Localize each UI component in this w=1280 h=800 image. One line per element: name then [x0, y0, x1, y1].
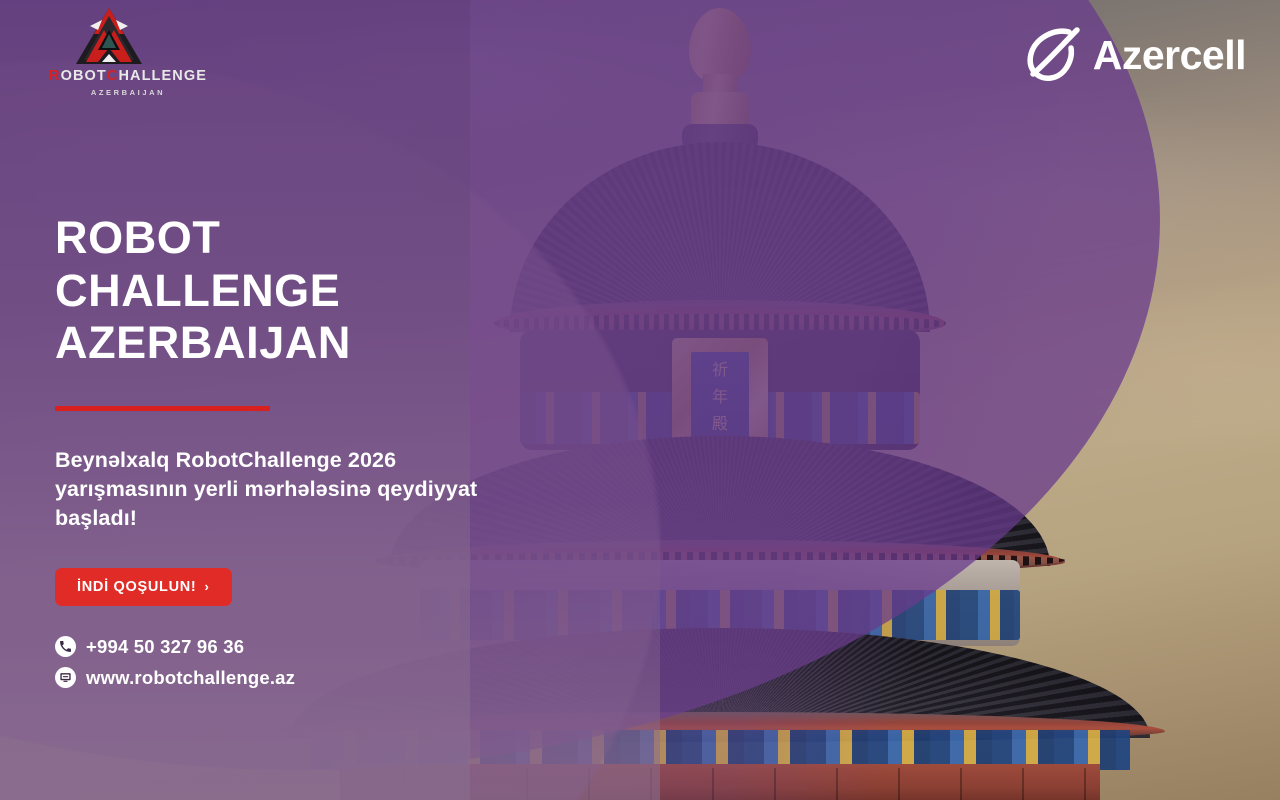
join-now-label: İNDİ QOŞULUN! [77, 579, 196, 595]
contact-phone-text: +994 50 327 96 36 [86, 636, 244, 658]
azercell-alpha-swoosh-icon [1025, 26, 1087, 84]
azercell-logo[interactable]: Azercell [1025, 26, 1246, 84]
headline-line-1: ROBOT [55, 212, 221, 263]
headline-line-2: CHALLENGE [55, 265, 340, 316]
azercell-wordmark: Azercell [1093, 32, 1246, 79]
contact-website-text: www.robotchallenge.az [86, 667, 295, 689]
page-title: ROBOT CHALLENGE AZERBAIJAN [55, 212, 525, 370]
contact-list: +994 50 327 96 36 www.robotchallenge.az [55, 636, 525, 689]
hero-subtitle: Beynəlxalq RobotChallenge 2026 yarışması… [55, 446, 495, 534]
contact-website[interactable]: www.robotchallenge.az [55, 667, 525, 689]
robot-challenge-triangle-icon [72, 6, 146, 68]
headline-line-3: AZERBAIJAN [55, 317, 351, 368]
robot-challenge-sublabel: AZERBAIJAN [38, 88, 218, 97]
chevron-right-icon: › [204, 579, 209, 594]
contact-phone[interactable]: +994 50 327 96 36 [55, 636, 525, 658]
join-now-button[interactable]: İNDİ QOŞULUN! › [55, 568, 232, 606]
hero-content: ROBOT CHALLENGE AZERBAIJAN Beynəlxalq Ro… [55, 212, 525, 689]
robot-challenge-logo[interactable]: ROBOTCHALLENGE AZERBAIJAN [38, 6, 218, 110]
website-icon [55, 667, 76, 688]
robot-challenge-wordmark: ROBOTCHALLENGE [38, 68, 218, 84]
phone-icon [55, 636, 76, 657]
accent-divider [55, 406, 270, 411]
promo-banner: 祈 年 殿 ROBOTCHALL [0, 0, 1280, 800]
